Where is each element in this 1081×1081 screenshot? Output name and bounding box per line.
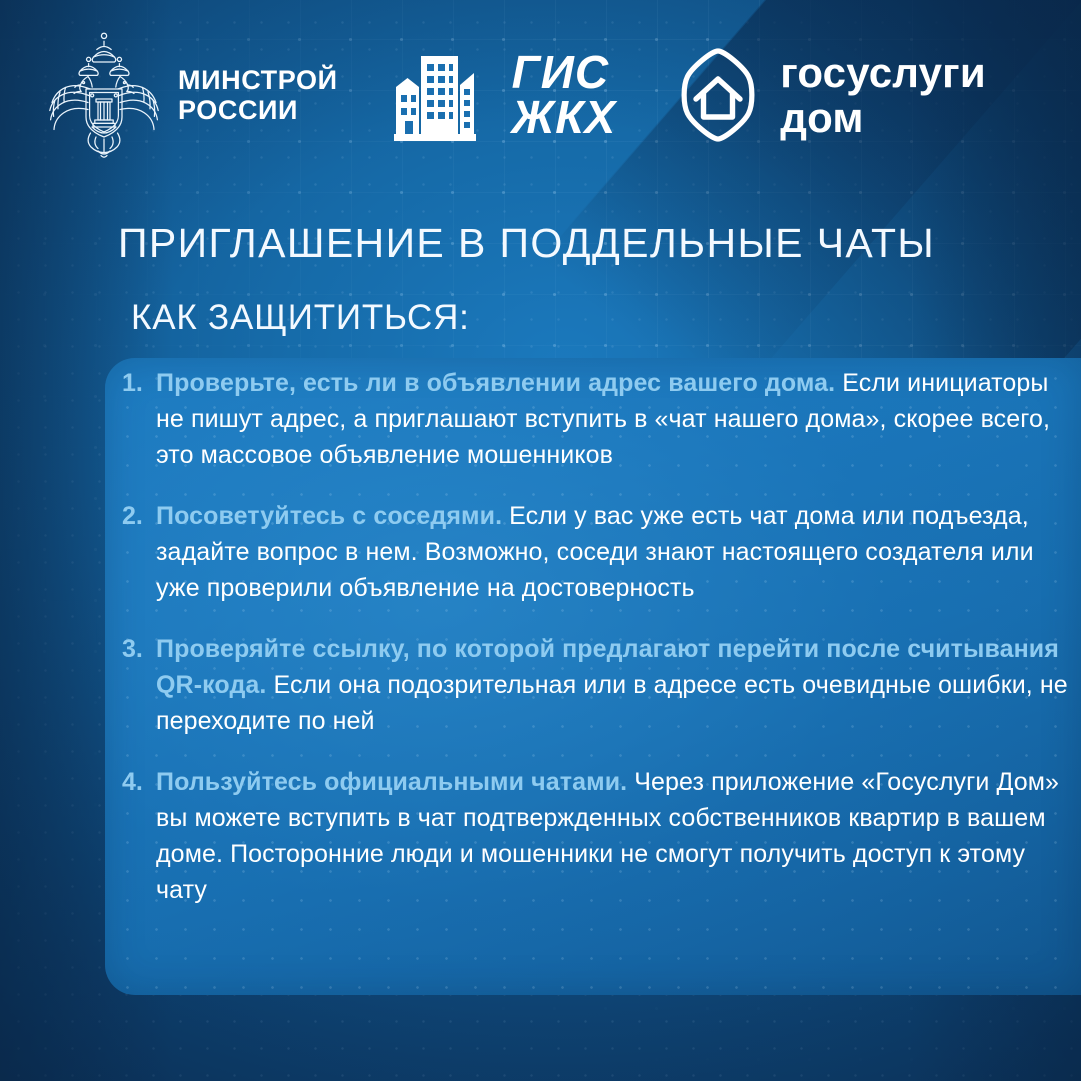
gis-zhkh-wordmark: ГИС ЖКХ bbox=[512, 50, 617, 140]
list-item-body: Пользуйтесь официальными чатами. Через п… bbox=[156, 764, 1071, 908]
gosuslugi-dom-wordmark: госуслуги дом bbox=[780, 50, 986, 140]
logo-gis-zhkh: ГИС ЖКХ bbox=[394, 45, 617, 145]
house-in-hexagon-icon bbox=[670, 47, 766, 143]
logo-minstroy-rossii: МИНСТРОЙ РОССИИ bbox=[44, 29, 338, 161]
list-item-body: Проверяйте ссылку, по которой предлагают… bbox=[156, 631, 1071, 739]
gis-line-2: ЖКХ bbox=[512, 95, 617, 140]
minstroy-line-2: РОССИИ bbox=[178, 95, 338, 125]
list-item-number: 4. bbox=[122, 764, 156, 908]
list-item-lead: Проверьте, есть ли в объявлении адрес ва… bbox=[156, 369, 835, 397]
list-item-lead: Пользуйтесь официальными чатами. bbox=[156, 768, 627, 796]
buildings-icon bbox=[394, 45, 506, 145]
gosuslugi-line-2: дом bbox=[780, 95, 986, 140]
advice-card: 1. Проверьте, есть ли в объявлении адрес… bbox=[105, 358, 1081, 995]
list-item: 2. Посоветуйтесь с соседями. Если у вас … bbox=[122, 498, 1071, 606]
list-item-body: Проверьте, есть ли в объявлении адрес ва… bbox=[156, 365, 1071, 473]
list-item-number: 1. bbox=[122, 365, 156, 473]
logo-gosuslugi-dom: госуслуги дом bbox=[670, 47, 986, 143]
list-item-rest: Если она подозрительная или в адресе ест… bbox=[156, 671, 1068, 735]
list-item: 4. Пользуйтесь официальными чатами. Чере… bbox=[122, 764, 1071, 908]
list-item-number: 2. bbox=[122, 498, 156, 606]
list-item: 1. Проверьте, есть ли в объявлении адрес… bbox=[122, 365, 1071, 473]
poster: МИНСТРОЙ РОССИИ bbox=[0, 0, 1081, 1081]
gis-line-1: ГИС bbox=[512, 50, 617, 95]
page-subtitle: КАК ЗАЩИТИТЬСЯ: bbox=[131, 297, 470, 339]
minstroy-line-1: МИНСТРОЙ bbox=[178, 65, 338, 95]
page-title: ПРИГЛАШЕНИЕ В ПОДДЕЛЬНЫЕ ЧАТЫ bbox=[118, 219, 1018, 267]
minstroy-wordmark: МИНСТРОЙ РОССИИ bbox=[178, 65, 338, 125]
list-item-lead: Посоветуйтесь с соседями. bbox=[156, 502, 502, 530]
list-item-number: 3. bbox=[122, 631, 156, 739]
russian-coat-of-arms-icon bbox=[44, 29, 164, 161]
advice-list: 1. Проверьте, есть ли в объявлении адрес… bbox=[122, 365, 1071, 908]
header-logo-bar: МИНСТРОЙ РОССИИ bbox=[0, 0, 1081, 190]
list-item: 3. Проверяйте ссылку, по которой предлаг… bbox=[122, 631, 1071, 739]
gosuslugi-line-1: госуслуги bbox=[780, 50, 986, 95]
list-item-body: Посоветуйтесь с соседями. Если у вас уже… bbox=[156, 498, 1071, 606]
